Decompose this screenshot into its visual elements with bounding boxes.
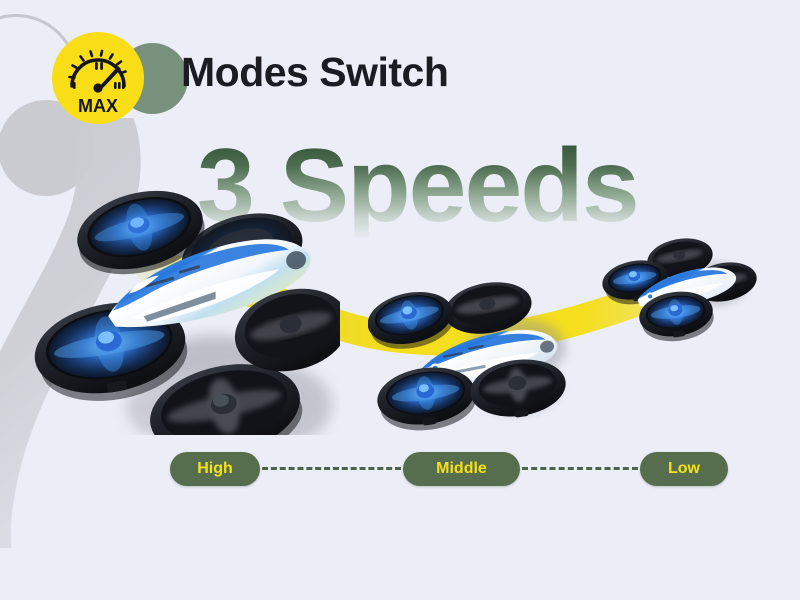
max-label: MAX xyxy=(78,96,118,116)
connector-middle-low xyxy=(522,467,638,470)
max-speed-badge: MAX xyxy=(52,32,144,124)
drone-large xyxy=(10,160,340,435)
speed-mode-selector: High Middle Low xyxy=(0,452,800,488)
speed-option-low[interactable]: Low xyxy=(640,452,728,486)
speed-option-low-label: Low xyxy=(668,460,700,478)
drone-small xyxy=(602,232,762,350)
speed-option-middle-label: Middle xyxy=(436,460,487,478)
speed-option-high-label: High xyxy=(197,460,233,478)
connector-high-middle xyxy=(262,467,401,470)
promo-canvas: 3 Speeds xyxy=(0,0,800,600)
speed-option-high[interactable]: High xyxy=(170,452,260,486)
speed-option-middle[interactable]: Middle xyxy=(403,452,520,486)
drone-medium xyxy=(368,278,583,433)
page-title: Modes Switch xyxy=(181,44,448,100)
speedometer-icon: MAX xyxy=(52,32,144,124)
